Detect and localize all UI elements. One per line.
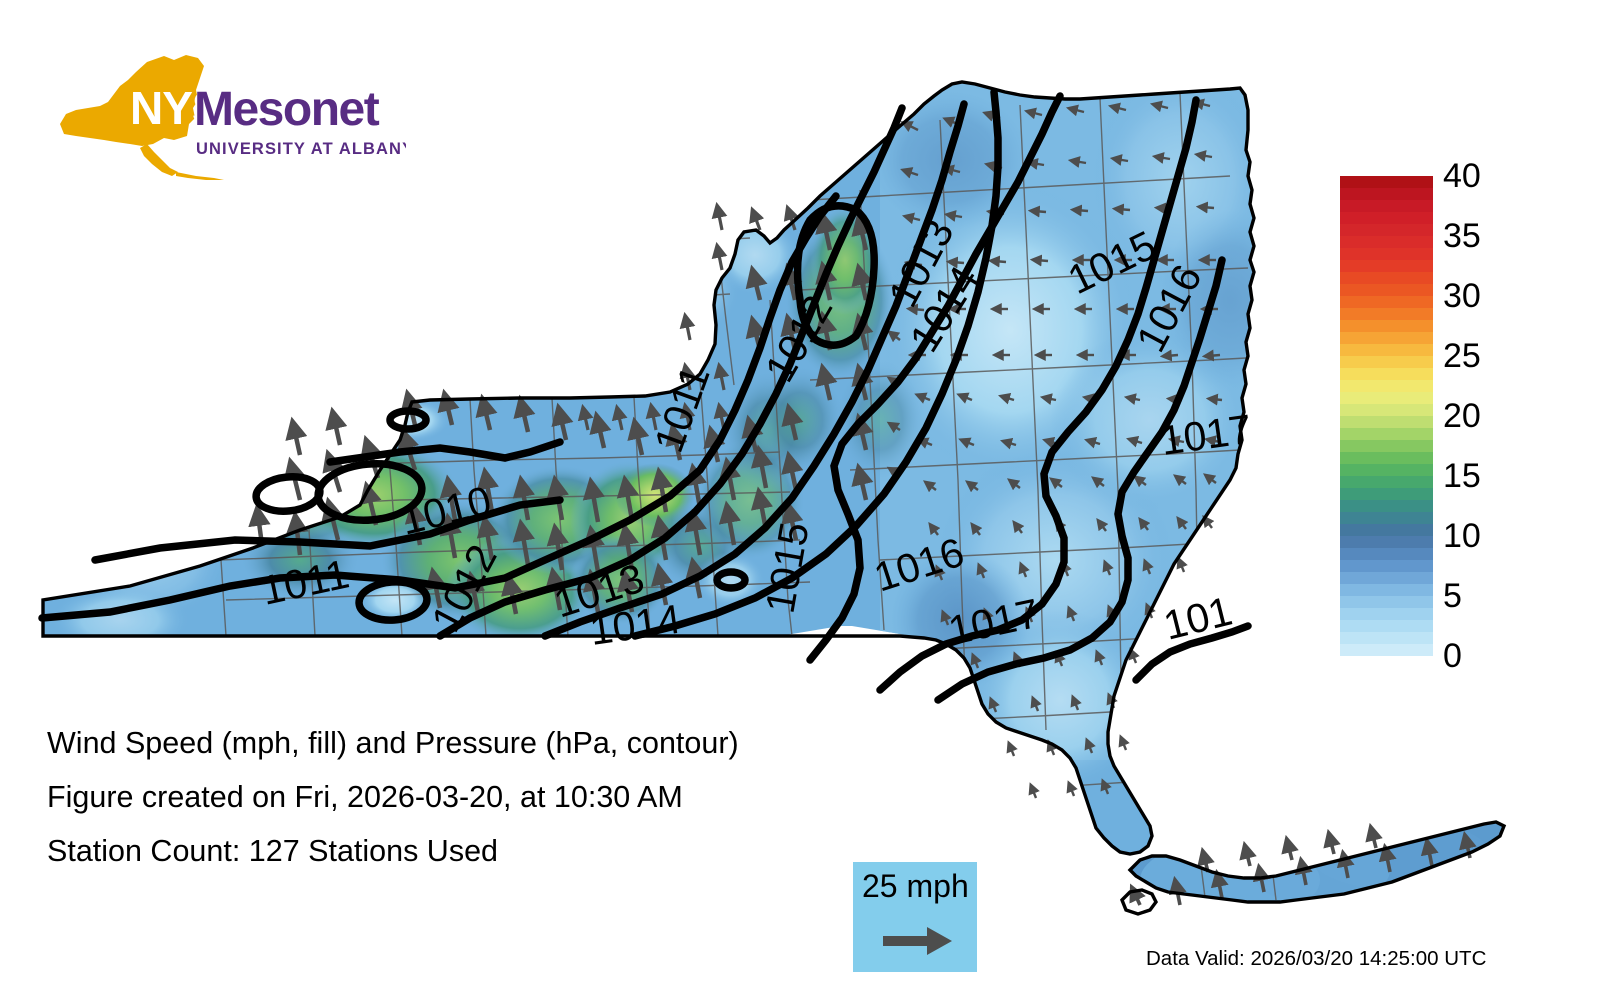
- caption-station-count: Station Count: 127 Stations Used: [47, 824, 847, 878]
- colorbar-band: [1340, 296, 1433, 308]
- colorbar-band: [1340, 500, 1433, 512]
- colorbar-tick: 10: [1443, 519, 1481, 553]
- colorbar-band: [1340, 440, 1433, 452]
- wind-speed-colorbar: [1340, 176, 1433, 656]
- colorbar-band: [1340, 560, 1433, 572]
- colorbar-band: [1340, 548, 1433, 560]
- colorbar-band: [1340, 584, 1433, 596]
- caption-title: Wind Speed (mph, fill) and Pressure (hPa…: [47, 716, 847, 770]
- colorbar-band: [1340, 464, 1433, 476]
- colorbar-band: [1340, 452, 1433, 464]
- colorbar-band: [1340, 200, 1433, 212]
- colorbar-tick: 30: [1443, 279, 1481, 313]
- caption-created: Figure created on Fri, 2026-03-20, at 10…: [47, 770, 847, 824]
- wind-legend-label: 25 mph: [862, 868, 969, 904]
- wind-vector-legend: 25 mph: [853, 862, 977, 972]
- colorbar-band: [1340, 380, 1433, 392]
- colorbar-band: [1340, 596, 1433, 608]
- colorbar-band: [1340, 416, 1433, 428]
- colorbar-band: [1340, 644, 1433, 656]
- colorbar-band: [1340, 332, 1433, 344]
- colorbar-tick: 0: [1443, 639, 1462, 673]
- colorbar-band: [1340, 524, 1433, 536]
- colorbar-band: [1340, 572, 1433, 584]
- figure-caption: Wind Speed (mph, fill) and Pressure (hPa…: [47, 716, 847, 878]
- colorbar-band: [1340, 308, 1433, 320]
- colorbar-band: [1340, 392, 1433, 404]
- colorbar-tick: 20: [1443, 399, 1481, 433]
- colorbar-tick: 35: [1443, 219, 1481, 253]
- colorbar-tick: 5: [1443, 579, 1462, 613]
- colorbar-band: [1340, 368, 1433, 380]
- colorbar-band: [1340, 476, 1433, 488]
- colorbar-band: [1340, 188, 1433, 200]
- colorbar-band: [1340, 428, 1433, 440]
- colorbar-band: [1340, 248, 1433, 260]
- data-valid-timestamp: Data Valid: 2026/03/20 14:25:00 UTC: [1146, 946, 1486, 972]
- colorbar-band: [1340, 536, 1433, 548]
- colorbar-tick-labels: 4035302520151050: [1443, 176, 1533, 656]
- contour-label-1018-edge: 101: [1159, 588, 1237, 649]
- colorbar-band: [1340, 284, 1433, 296]
- colorbar-tick: 15: [1443, 459, 1481, 493]
- colorbar-band: [1340, 608, 1433, 620]
- colorbar-band: [1340, 176, 1433, 188]
- colorbar-band: [1340, 260, 1433, 272]
- colorbar-band: [1340, 236, 1433, 248]
- colorbar-tick: 40: [1443, 159, 1481, 193]
- weather-map-figure: NYS Mesonet UNIVERSITY AT ALBANY: [0, 0, 1600, 1000]
- colorbar-band: [1340, 212, 1433, 224]
- colorbar-band: [1340, 320, 1433, 332]
- colorbar-band: [1340, 632, 1433, 644]
- colorbar-band: [1340, 224, 1433, 236]
- colorbar-band: [1340, 404, 1433, 416]
- colorbar-band: [1340, 620, 1433, 632]
- colorbar-tick: 25: [1443, 339, 1481, 373]
- colorbar-band: [1340, 512, 1433, 524]
- colorbar-band: [1340, 344, 1433, 356]
- colorbar-band: [1340, 272, 1433, 284]
- colorbar-band: [1340, 488, 1433, 500]
- colorbar-band: [1340, 356, 1433, 368]
- wind-legend-arrow-icon: [883, 924, 953, 958]
